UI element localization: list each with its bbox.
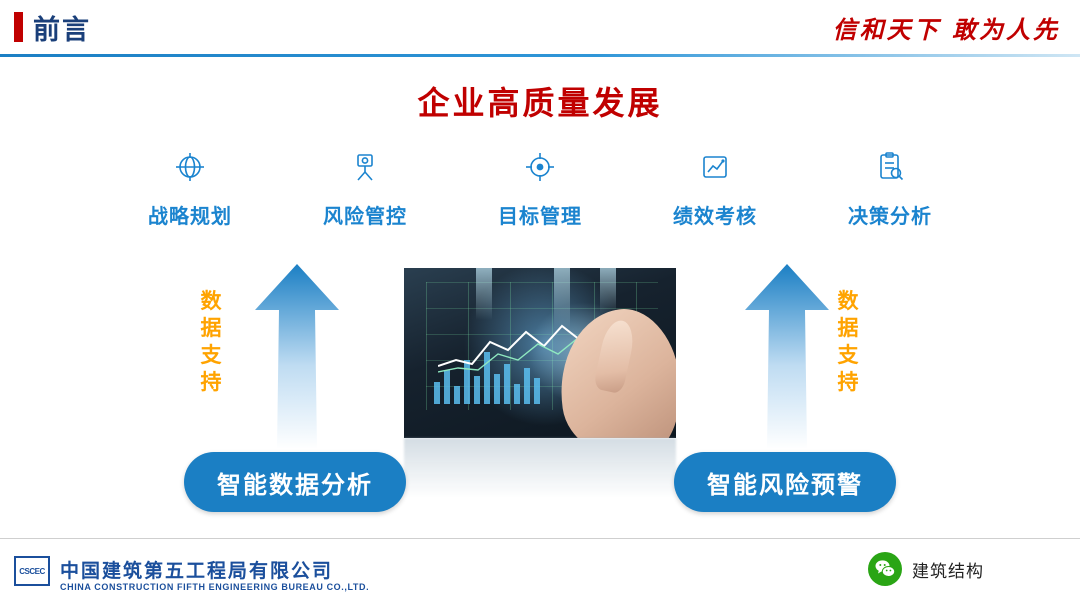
slide-header: 前言 信和天下 敢为人先 <box>0 0 1080 57</box>
vchar: 持 <box>833 369 863 396</box>
footer-divider <box>0 538 1080 539</box>
data-analysis-photo <box>404 268 676 438</box>
vchar: 支 <box>196 342 226 369</box>
data-support-label-right: 数 据 支 持 <box>833 288 863 396</box>
data-support-label-left: 数 据 支 持 <box>196 288 226 396</box>
capability-label: 决策分析 <box>810 200 970 229</box>
clipboard-analysis-icon <box>810 146 970 188</box>
page-title: 前言 <box>33 8 91 47</box>
vchar: 据 <box>196 315 226 342</box>
capability-label: 绩效考核 <box>635 200 795 229</box>
photo-light-beam-3 <box>600 268 616 314</box>
chart-assessment-icon <box>635 146 795 188</box>
risk-shield-icon <box>285 146 445 188</box>
capability-label: 风险管控 <box>285 200 445 229</box>
up-arrow-left <box>255 264 339 449</box>
wechat-icon <box>868 552 902 586</box>
capability-item-strategy[interactable]: 战略规划 <box>110 146 270 236</box>
capability-icon-row: 战略规划 风险管控 目标管理 <box>110 146 970 236</box>
cscec-logo: CSCEC <box>14 556 50 586</box>
photo-reflection <box>404 438 676 498</box>
globe-target-icon <box>110 146 270 188</box>
capability-label: 目标管理 <box>460 200 620 229</box>
capability-item-goal[interactable]: 目标管理 <box>460 146 620 236</box>
company-name-en: CHINA CONSTRUCTION FIFTH ENGINEERING BUR… <box>60 582 369 592</box>
target-crosshair-icon <box>460 146 620 188</box>
photo-light-beam-1 <box>476 268 492 320</box>
up-arrow-right <box>745 264 829 449</box>
company-name-cn: 中国建筑第五工程局有限公司 <box>60 556 333 583</box>
vchar: 数 <box>196 288 226 315</box>
vchar: 持 <box>196 369 226 396</box>
pill-smart-risk-warning[interactable]: 智能风险预警 <box>674 452 896 512</box>
capability-item-risk[interactable]: 风险管控 <box>285 146 445 236</box>
vchar: 据 <box>833 315 863 342</box>
capability-label: 战略规划 <box>110 200 270 229</box>
header-accent-bar <box>14 12 23 42</box>
capability-item-performance[interactable]: 绩效考核 <box>635 146 795 236</box>
pill-smart-data-analysis[interactable]: 智能数据分析 <box>184 452 406 512</box>
capability-item-decision[interactable]: 决策分析 <box>810 146 970 236</box>
vchar: 支 <box>833 342 863 369</box>
wechat-account: 建筑结构 <box>868 552 984 586</box>
main-title: 企业高质量发展 <box>0 78 1080 124</box>
wechat-label: 建筑结构 <box>912 557 984 582</box>
vchar: 数 <box>833 288 863 315</box>
header-slogan: 信和天下 敢为人先 <box>833 10 1060 45</box>
header-divider <box>0 54 1080 57</box>
